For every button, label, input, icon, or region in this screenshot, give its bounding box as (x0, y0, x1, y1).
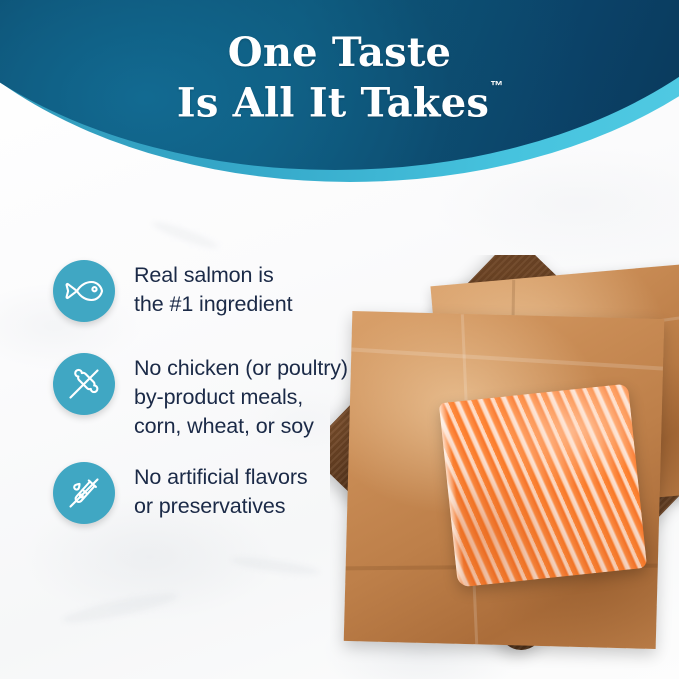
list-item: No chicken (or poultry) by-product meals… (53, 353, 348, 441)
list-item-label: No chicken (or poultry) by-product meals… (134, 353, 348, 441)
fish-icon (53, 260, 115, 322)
no-test-tube-icon (53, 462, 115, 524)
list-item: No artificial flavors or preservatives (53, 462, 308, 524)
list-item: Real salmon is the #1 ingredient (53, 260, 292, 322)
feature-list: Real salmon is the #1 ingredient No chic… (0, 0, 679, 679)
no-bone-icon (53, 353, 115, 415)
list-item-label: Real salmon is the #1 ingredient (134, 260, 292, 319)
list-item-label: No artificial flavors or preservatives (134, 462, 308, 521)
advertisement-banner: One Taste Is All It Takes™ Real salmon i… (0, 0, 679, 679)
